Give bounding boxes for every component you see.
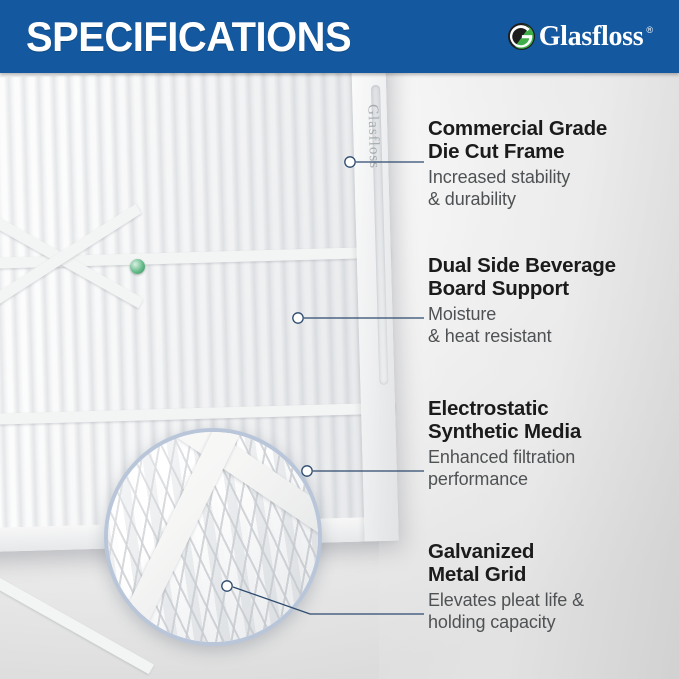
callout-dual-side-beverage-board-support: Dual Side Beverage Board Support Moistur… [428,255,676,348]
brand-wordmark: Glasfloss [539,23,644,51]
callout-description: Increased stability & durability [428,166,676,211]
callout-title: Dual Side Beverage Board Support [428,255,676,301]
glasfloss-g-circle-icon [507,22,536,51]
brand-logo: Glasfloss ® [507,22,661,51]
callout-desc-line2: holding capacity [428,612,556,632]
callout-desc-line1: Moisture [428,304,496,324]
callout-title-line2: Board Support [428,277,569,300]
callout-desc-line2: & durability [428,189,516,209]
callout-title: Commercial Grade Die Cut Frame [428,118,676,164]
callout-description: Enhanced filtration performance [428,446,676,491]
callout-title-line2: Synthetic Media [428,420,581,443]
callout-description: Moisture & heat resistant [428,303,676,348]
specifications-infographic: SPECIFICATIONS Glasfloss ® [0,0,679,679]
callout-title-line1: Electrostatic [428,397,548,420]
callout-commercial-grade-die-cut-frame: Commercial Grade Die Cut Frame Increased… [428,118,676,211]
callout-title-line1: Commercial Grade [428,117,607,140]
brand-trademark: ® [646,26,653,35]
callout-desc-line1: Elevates pleat life & [428,590,584,610]
callout-desc-line2: & heat resistant [428,326,551,346]
magnifier-shading [108,432,318,642]
callout-title-line1: Dual Side Beverage [428,254,616,277]
green-dot-icon [130,259,145,274]
callout-description: Elevates pleat life & holding capacity [428,589,676,634]
callout-electrostatic-synthetic-media: Electrostatic Synthetic Media Enhanced f… [428,398,676,491]
callout-desc-line2: performance [428,469,528,489]
callout-title-line2: Die Cut Frame [428,140,564,163]
callout-galvanized-metal-grid: Galvanized Metal Grid Elevates pleat lif… [428,541,676,634]
callout-title-line1: Galvanized [428,540,534,563]
callout-title: Galvanized Metal Grid [428,541,676,587]
page-title: SPECIFICATIONS [26,16,351,58]
callout-title-line2: Metal Grid [428,563,526,586]
callout-title: Electrostatic Synthetic Media [428,398,676,444]
callout-desc-line1: Enhanced filtration [428,447,575,467]
header-bar: SPECIFICATIONS Glasfloss ® [0,0,679,73]
magnifier-circle-inset [104,428,322,646]
callout-desc-line1: Increased stability [428,167,570,187]
